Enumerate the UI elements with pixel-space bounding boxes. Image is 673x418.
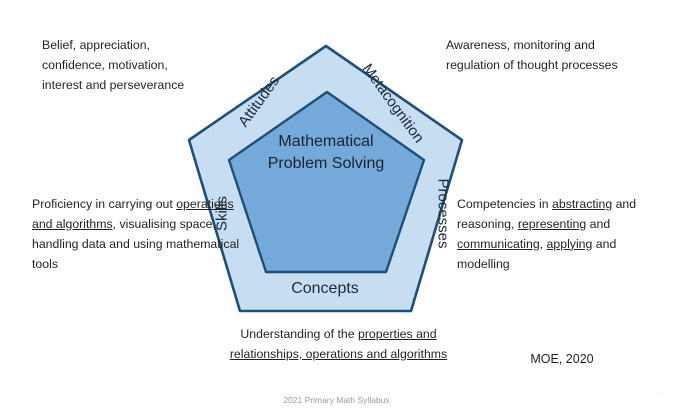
caption-attitudes: Belief, appreciation, confidence, motiva… xyxy=(42,36,272,96)
caption-skills: Proficiency in carrying out operations a… xyxy=(32,195,247,275)
caption-processes-underlined-2: representing xyxy=(518,217,586,231)
slide-canvas: Attitudes Metacognition Processes Concep… xyxy=(0,0,673,418)
slide-footer: 2021 Primary Math Syllabus xyxy=(0,395,673,405)
caption-skills-text-1: Proficiency in carrying out xyxy=(32,197,176,211)
caption-processes-underlined-3: communicating xyxy=(457,237,540,251)
pentagon-core-label: Mathematical Problem Solving xyxy=(248,131,404,174)
caption-processes-text-4: , xyxy=(540,237,547,251)
caption-concepts: Understanding of the properties and rela… xyxy=(207,325,470,365)
caption-processes: Competencies in abstracting and reasonin… xyxy=(457,195,672,275)
pentagon-label-processes: Processes xyxy=(435,169,452,259)
caption-processes-underlined-1: abstracting xyxy=(552,197,612,211)
source-credit: MOE, 2020 xyxy=(487,352,637,366)
caption-processes-underlined-4: applying xyxy=(547,237,593,251)
pentagon-label-concepts: Concepts xyxy=(263,280,387,298)
caption-metacognition: Awareness, monitoring and regulation of … xyxy=(446,36,668,76)
caption-processes-text-1: Competencies in xyxy=(457,197,552,211)
page-mark: : xyxy=(658,390,660,399)
caption-concepts-text-1: Understanding of the xyxy=(240,327,358,341)
caption-processes-text-3: and xyxy=(586,217,610,231)
